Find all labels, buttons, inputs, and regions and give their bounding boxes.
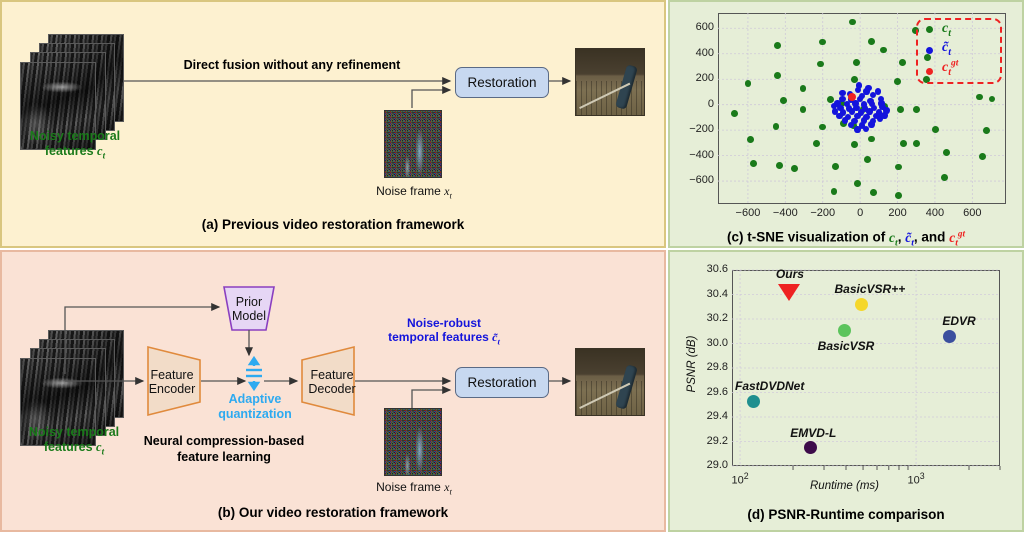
direct-fusion-arrow-label: Direct fusion without any refinement bbox=[122, 58, 462, 74]
legend-label-ct-gt: ctgt bbox=[942, 58, 958, 78]
panel-c-tsne: −600−400−2000200400600−600−400−200020040… bbox=[668, 0, 1024, 248]
tsne-point-c~_t bbox=[854, 126, 860, 132]
adaptive-quantization-label: Adaptive quantization bbox=[199, 392, 311, 422]
panel-a-previous-framework: Noisy temporal features ct Direct fusion… bbox=[0, 0, 666, 248]
noisy-label-line1: Noisy temporal bbox=[30, 129, 120, 143]
psnr-ytick: 30.4 bbox=[686, 288, 728, 300]
restored-output-frame-a bbox=[575, 48, 645, 116]
tsne-ytick: 400 bbox=[674, 47, 714, 59]
restored-output-frame-b bbox=[575, 348, 645, 416]
tsne-point-c_t bbox=[817, 61, 824, 68]
tsne-point-c~_t bbox=[875, 88, 881, 94]
restoration-box-a: Restoration bbox=[455, 67, 549, 98]
tsne-point-c_t bbox=[854, 180, 861, 187]
tsne-point-c_t bbox=[900, 140, 907, 147]
tsne-point-c_t bbox=[827, 96, 834, 103]
noisy-label-line2: features bbox=[45, 144, 94, 158]
tsne-point-c_t bbox=[750, 160, 757, 167]
noise-frame-b bbox=[384, 408, 442, 476]
psnr-label-EDVR: EDVR bbox=[942, 314, 975, 328]
psnr-label-Ours: Ours bbox=[776, 267, 804, 281]
psnr-xtick: 103 bbox=[900, 471, 932, 487]
noisy-temporal-features-label-a: Noisy temporal features ct bbox=[10, 129, 140, 161]
tsne-point-c_t bbox=[913, 140, 920, 147]
psnr-yaxis-title: PSNR (dB) bbox=[686, 324, 698, 404]
tsne-point-c_t bbox=[983, 127, 990, 134]
legend-label-ct-tilde: c̃t bbox=[942, 38, 951, 58]
c-t-symbol-a: ct bbox=[97, 144, 105, 158]
tsne-point-c_t bbox=[943, 149, 950, 156]
prior-model-line1: Prior bbox=[236, 295, 262, 309]
tsne-point-c_t bbox=[897, 106, 904, 113]
tsne-point-c_t bbox=[895, 192, 902, 199]
psnr-ytick: 29.4 bbox=[686, 410, 728, 422]
tsne-point-c_t bbox=[851, 141, 858, 148]
tsne-point-c_t bbox=[849, 19, 856, 26]
psnr-ytick: 29.2 bbox=[686, 435, 728, 447]
tsne-point-c~_t bbox=[868, 121, 874, 127]
tsne-point-c_t bbox=[791, 165, 798, 172]
x-t-symbol-b: xt bbox=[444, 480, 452, 494]
noise-label-text-a: Noise frame bbox=[376, 184, 441, 198]
robust-line2: temporal features bbox=[388, 330, 489, 344]
psnr-label-EMVD-L: EMVD-L bbox=[790, 426, 836, 440]
psnr-ytick: 30.6 bbox=[686, 263, 728, 275]
tsne-point-c_t bbox=[773, 123, 780, 130]
tsne-point-c_t bbox=[800, 85, 807, 92]
prior-model-line2: Model bbox=[232, 309, 266, 323]
tsne-point-c_t bbox=[941, 174, 948, 181]
tsne-ytick: 200 bbox=[674, 72, 714, 84]
tsne-xtick: 400 bbox=[919, 207, 951, 219]
c-tilde-t-symbol: c̃t bbox=[492, 330, 500, 344]
noise-label-text-b: Noise frame bbox=[376, 480, 441, 494]
tsne-point-c_t bbox=[832, 163, 839, 170]
tsne-point-c_t bbox=[774, 72, 781, 79]
tsne-xtick: 200 bbox=[882, 207, 914, 219]
tsne-point-c_t bbox=[894, 78, 901, 85]
noise-frame-a bbox=[384, 110, 442, 178]
quant-line2: quantization bbox=[218, 407, 292, 421]
noise-frame-label-a: Noise frame xt bbox=[344, 184, 484, 200]
encoder-line1: Feature bbox=[150, 368, 193, 382]
legend-label-ct: ct bbox=[942, 19, 951, 39]
noise-frame-label-b: Noise frame xt bbox=[344, 480, 484, 496]
tsne-point-c_t bbox=[776, 162, 783, 169]
quant-line1: Adaptive bbox=[229, 392, 282, 406]
neural-compression-label: Neural compression-based feature learnin… bbox=[114, 434, 334, 465]
panel-c-caption-prefix: (c) t-SNE visualization of bbox=[727, 230, 885, 245]
tsne-point-c_t bbox=[868, 136, 875, 143]
tsne-point-c_t bbox=[870, 189, 877, 196]
noisy-label-line2-b: features bbox=[44, 440, 93, 454]
tsne-point-c_t bbox=[800, 106, 807, 113]
tsne-point-c_t bbox=[899, 59, 906, 66]
psnr-marker-EDVR bbox=[943, 330, 956, 343]
psnr-xaxis-title: Runtime (ms) bbox=[810, 480, 879, 492]
psnr-label-BasicVSR++: BasicVSR++ bbox=[835, 282, 906, 296]
tsne-ytick: −600 bbox=[674, 174, 714, 186]
psnr-marker-EMVD-L bbox=[804, 441, 817, 454]
psnr-label-BasicVSR: BasicVSR bbox=[818, 339, 875, 353]
prior-model-box: Prior Model bbox=[220, 288, 278, 330]
tsne-point-c_t bbox=[979, 153, 986, 160]
panel-d-caption: (d) PSNR-Runtime comparison bbox=[670, 507, 1022, 522]
tsne-point-c_t bbox=[745, 80, 752, 87]
tsne-point-c_t bbox=[831, 188, 838, 195]
tsne-point-c~_t bbox=[863, 126, 869, 132]
tsne-point-c_t^gt bbox=[848, 93, 856, 101]
tsne-point-c_t bbox=[868, 38, 875, 45]
c-t-symbol-b: ct bbox=[96, 440, 104, 454]
panel-c-caption-mid: , and bbox=[914, 230, 946, 245]
psnr-ytick: 30.2 bbox=[686, 312, 728, 324]
tsne-xtick: 0 bbox=[844, 207, 876, 219]
tsne-point-c_t bbox=[913, 106, 920, 113]
psnr-xtick: 102 bbox=[724, 471, 756, 487]
psnr-ytick: 29.0 bbox=[686, 459, 728, 471]
robust-line1: Noise-robust bbox=[407, 316, 481, 330]
tsne-point-c_t bbox=[774, 42, 781, 49]
tsne-point-c_t bbox=[864, 156, 871, 163]
tsne-point-c_t bbox=[932, 126, 939, 133]
psnr-marker-BasicVSR bbox=[838, 324, 851, 337]
noise-robust-features-label: Noise-robust temporal features c̃t bbox=[354, 316, 534, 347]
tsne-point-c_t bbox=[895, 164, 902, 171]
feature-encoder-box: Feature Encoder bbox=[144, 360, 200, 404]
tsne-point-c~_t bbox=[877, 115, 883, 121]
tsne-point-c_t bbox=[989, 96, 996, 103]
tsne-point-c_t bbox=[853, 59, 860, 66]
decoder-line1: Feature bbox=[310, 368, 353, 382]
method-line2: feature learning bbox=[177, 450, 271, 464]
tsne-point-c_t bbox=[747, 136, 754, 143]
restoration-box-b: Restoration bbox=[455, 367, 549, 398]
tsne-ytick: −400 bbox=[674, 149, 714, 161]
tsne-point-c~_t bbox=[839, 90, 845, 96]
tsne-point-c_t bbox=[819, 39, 826, 46]
encoder-line2: Encoder bbox=[149, 382, 196, 396]
panel-b-caption: (b) Our video restoration framework bbox=[2, 505, 664, 520]
tsne-xtick: −400 bbox=[769, 207, 801, 219]
decoder-line2: Decoder bbox=[308, 382, 355, 396]
tsne-point-c_t bbox=[819, 124, 826, 131]
figure-root: Noisy temporal features ct Direct fusion… bbox=[0, 0, 1024, 532]
tsne-point-c~_t bbox=[865, 85, 871, 91]
tsne-point-c~_t bbox=[856, 82, 862, 88]
psnr-marker-BasicVSR++ bbox=[855, 298, 868, 311]
tsne-point-c~_t bbox=[883, 107, 889, 113]
tsne-point-c_t bbox=[731, 110, 738, 117]
tsne-ytick: −200 bbox=[674, 123, 714, 135]
feature-decoder-box: Feature Decoder bbox=[304, 360, 360, 404]
noisy-label-line1-b: Noisy temporal bbox=[29, 425, 119, 439]
tsne-xtick: −600 bbox=[732, 207, 764, 219]
tsne-ytick: 600 bbox=[674, 21, 714, 33]
psnr-label-FastDVDNet: FastDVDNet bbox=[735, 379, 804, 393]
tsne-point-c_t bbox=[880, 47, 887, 54]
tsne-point-c_t bbox=[780, 97, 787, 104]
psnr-marker-FastDVDNet bbox=[747, 395, 760, 408]
method-line1: Neural compression-based bbox=[144, 434, 304, 448]
tsne-legend: ct c̃t ctgt bbox=[916, 18, 1002, 84]
tsne-point-c_t bbox=[976, 94, 983, 101]
panel-a-caption: (a) Previous video restoration framework bbox=[2, 217, 664, 232]
legend-marker-ct-tilde bbox=[926, 47, 933, 54]
psnr-marker-Ours bbox=[778, 284, 800, 301]
tsne-point-c_t bbox=[813, 140, 820, 147]
tsne-xtick: 600 bbox=[956, 207, 988, 219]
panel-c-caption: (c) t-SNE visualization of ct, c̃t, and … bbox=[670, 228, 1022, 248]
x-t-symbol-a: xt bbox=[444, 184, 452, 198]
legend-marker-ct bbox=[926, 26, 933, 33]
legend-marker-ct-gt bbox=[926, 68, 933, 75]
tsne-ytick: 0 bbox=[674, 98, 714, 110]
panel-b-our-framework: Noisy temporal features ct bbox=[0, 250, 666, 532]
panel-d-psnr-runtime: 29.029.229.429.629.830.030.230.430.61021… bbox=[668, 250, 1024, 532]
tsne-xtick: −200 bbox=[807, 207, 839, 219]
